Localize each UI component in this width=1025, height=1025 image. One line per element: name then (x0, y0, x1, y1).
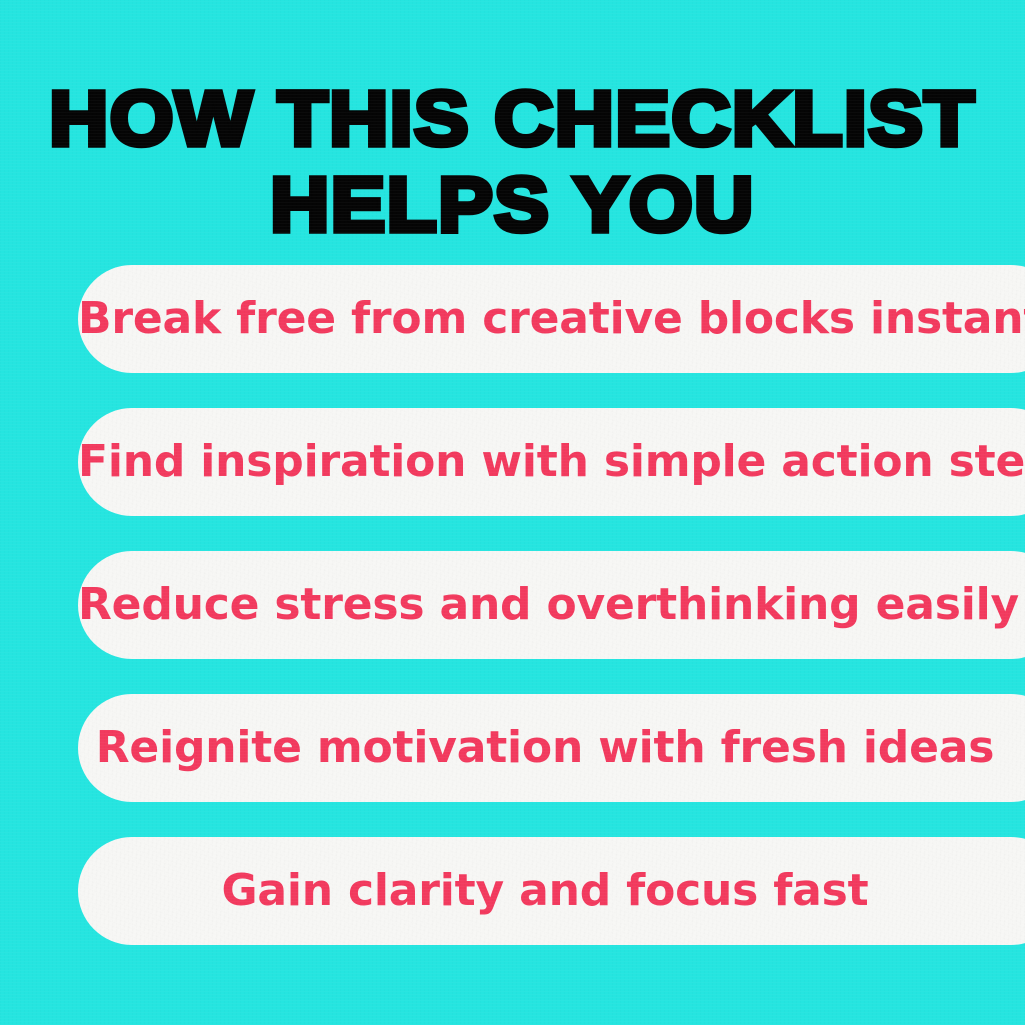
list-item[interactable]: Find inspiration with simple action step… (78, 408, 1025, 516)
benefits-list: Break free from creative blocks instantl… (78, 265, 1025, 945)
list-item[interactable]: Gain clarity and focus fast (78, 837, 1025, 945)
benefit-label-1: Break free from creative blocks instantl… (78, 297, 1012, 341)
benefit-label-3: Reduce stress and overthinking easily (78, 583, 1012, 627)
list-item[interactable]: Reignite motivation with fresh ideas (78, 694, 1025, 802)
page-title-line-1: HOW THIS CHECKLIST (0, 83, 1025, 157)
benefit-label-2: Find inspiration with simple action step… (78, 440, 1012, 484)
list-item[interactable]: Break free from creative blocks instantl… (78, 265, 1025, 373)
list-item[interactable]: Reduce stress and overthinking easily (78, 551, 1025, 659)
benefit-label-4: Reignite motivation with fresh ideas (78, 726, 1012, 770)
poster-canvas: HOW THIS CHECKLIST HELPS YOU Break free … (0, 0, 1025, 1025)
page-title: HOW THIS CHECKLIST HELPS YOU (0, 83, 1025, 243)
page-title-line-2: HELPS YOU (0, 169, 1025, 243)
benefit-label-5: Gain clarity and focus fast (78, 869, 1012, 913)
